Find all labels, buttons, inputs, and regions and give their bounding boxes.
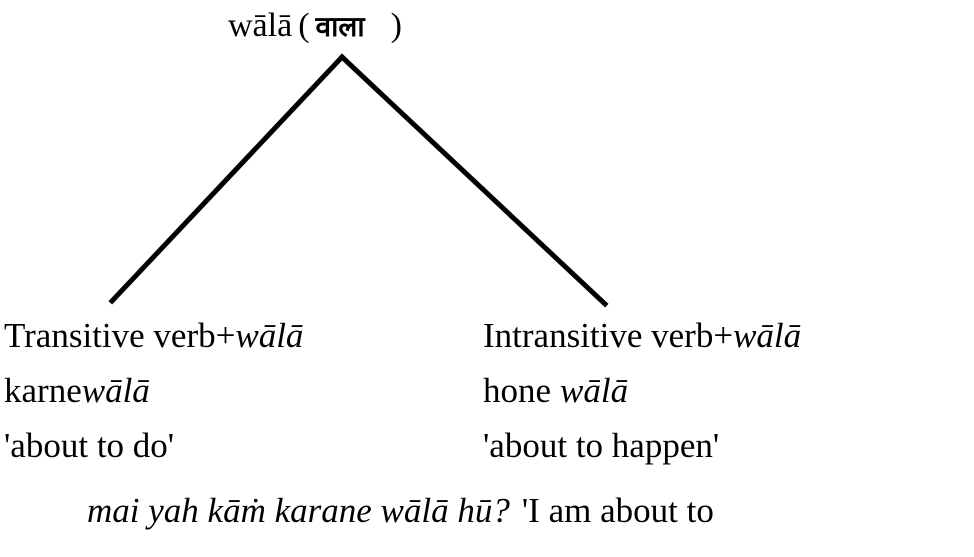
branch-intransitive-formula-prefix: Intransitive verb+	[483, 316, 733, 355]
branch-transitive: Transitive verb+wālā karnewālā 'about to…	[4, 308, 303, 473]
root-node-label: wālā(वाला)	[228, 6, 402, 47]
example-sentence-translation: 'I am about to	[522, 491, 714, 530]
branch-intransitive-formula-suffix: wālā	[733, 316, 801, 355]
root-devanagari-text: वाला	[316, 10, 365, 43]
root-romanized-text: wālā	[228, 7, 292, 44]
branch-intransitive-formula: Intransitive verb+wālā	[483, 308, 801, 363]
branch-intransitive-example: honewālā	[483, 363, 801, 418]
example-sentence-line: mai yah kāṁ karane wālā hū?'I am about t…	[87, 483, 714, 538]
root-close-paren: )	[391, 7, 402, 44]
branch-intransitive-example-suffix: wālā	[560, 371, 628, 410]
branch-transitive-gloss: 'about to do'	[4, 418, 303, 473]
branch-transitive-formula-prefix: Transitive verb+	[4, 316, 235, 355]
root-open-paren: (	[298, 7, 309, 44]
example-sentence-transliteration: mai yah kāṁ karane wālā hū?	[87, 491, 510, 530]
branch-intransitive: Intransitive verb+wālā honewālā 'about t…	[483, 308, 801, 473]
branch-transitive-example-stem: karne	[4, 371, 82, 410]
branch-transitive-example-suffix: wālā	[82, 371, 150, 410]
branch-intransitive-gloss: 'about to happen'	[483, 418, 801, 473]
branch-intransitive-example-stem: hone	[483, 371, 551, 410]
tree-branch-lines	[0, 0, 974, 557]
branch-transitive-example: karnewālā	[4, 363, 303, 418]
diagram-canvas: wālā(वाला) Transitive verb+wālā karnewāl…	[0, 0, 974, 557]
branch-line-right	[342, 57, 605, 304]
branch-transitive-formula: Transitive verb+wālā	[4, 308, 303, 363]
branch-line-left	[112, 57, 342, 301]
branch-transitive-formula-suffix: wālā	[235, 316, 303, 355]
